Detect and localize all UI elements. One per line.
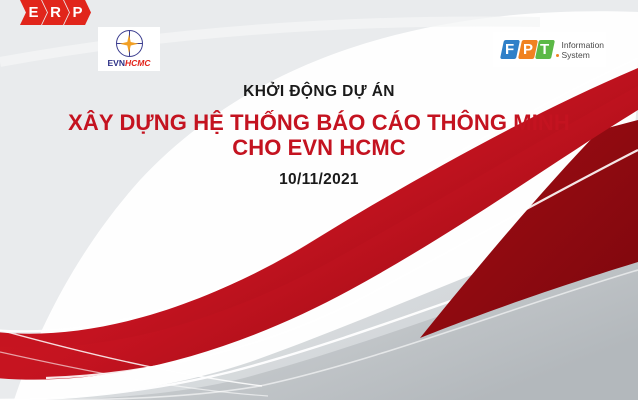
logo-evn-hcmc-text: EVNHCMC: [108, 59, 151, 68]
hcmc-word: HCMC: [125, 58, 151, 68]
evn-word: EVN: [108, 58, 125, 68]
fpt-registered-dot-icon: [556, 54, 559, 57]
event-date: 10/11/2021: [0, 170, 638, 190]
logo-evn-hcmc: EVNHCMC: [98, 27, 160, 71]
project-title-line-2: CHO EVN HCMC: [0, 135, 638, 160]
fpt-caption: Information System: [562, 40, 605, 60]
four-point-star-in-circle-icon: [116, 30, 143, 57]
logo-fpt-information-system: F P T Information System: [493, 32, 606, 67]
fpt-letter-t: T: [535, 40, 555, 59]
presentation-slide: EVNHCMC i E R P iERP Services JSC F P T …: [0, 0, 638, 400]
page-title: XÂY DỰNG HỆ THỐNG BÁO CÁO THÔNG MINH CHO…: [0, 110, 638, 160]
kickoff-label: KHỞI ĐỘNG DỰ ÁN: [0, 82, 638, 102]
fpt-caption-line2: System: [562, 50, 605, 60]
fpt-wordmark: F P T: [502, 40, 562, 59]
title-block: KHỞI ĐỘNG DỰ ÁN XÂY DỰNG HỆ THỐNG BÁO CÁ…: [0, 82, 638, 190]
star-glyph: [120, 34, 139, 53]
project-title-line-1: XÂY DỰNG HỆ THỐNG BÁO CÁO THÔNG MINH: [0, 110, 638, 135]
fpt-caption-line1: Information: [562, 40, 605, 50]
fpt-letter-f: F: [500, 40, 520, 59]
